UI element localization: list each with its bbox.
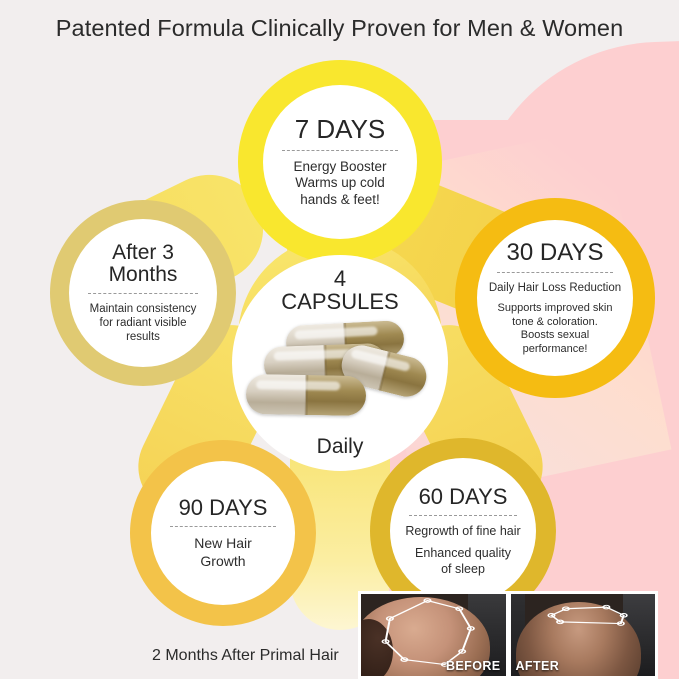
benefit-divider-90days [170,526,277,527]
benefit-heading-60days: 60 DAYS [419,485,508,508]
benefit-text-30days-primary: Daily Hair Loss Reduction [489,281,621,295]
benefit-text-after-3-months: Maintain consistency for radiant visible… [90,302,197,344]
benefit-text-7days: Energy Booster Warms up cold hands & fee… [293,159,386,208]
benefit-divider-after-3-months [88,293,198,294]
benefit-circle-7days[interactable]: 7 DAYS Energy Booster Warms up cold hand… [238,60,442,264]
benefit-circle-90days[interactable]: 90 DAYS New Hair Growth [130,440,316,626]
benefit-inner-90days: 90 DAYS New Hair Growth [151,461,295,605]
benefit-text-90days: New Hair Growth [194,535,252,569]
benefit-divider-30days [497,272,614,273]
capsule-4 [246,374,367,416]
before-photo: BEFORE [361,594,506,676]
benefit-text-60days-secondary: Enhanced quality of sleep [415,546,511,577]
after-label: AFTER [516,659,560,673]
page-title: Patented Formula Clinically Proven for M… [0,15,679,42]
before-label: BEFORE [446,659,501,673]
benefit-divider-60days [409,515,517,516]
center-dosage-circle[interactable]: 4 CAPSULES Daily [232,255,448,471]
after-photo: AFTER [511,594,656,676]
footer-caption: 2 Months After Primal Hair [152,647,339,665]
center-footer: Daily [232,435,448,459]
benefit-circle-after-3-months[interactable]: After 3 Months Maintain consistency for … [50,200,236,386]
benefit-heading-after-3-months: After 3 Months [109,242,178,286]
center-heading: 4 CAPSULES [281,267,398,313]
benefit-text-30days-secondary: Supports improved skin tone & coloration… [498,302,613,356]
benefit-inner-after-3-months: After 3 Months Maintain consistency for … [69,219,217,367]
benefit-heading-30days: 30 DAYS [507,240,604,265]
benefit-heading-90days: 90 DAYS [179,496,268,519]
benefit-divider-7days [282,150,397,151]
benefit-inner-30days: 30 DAYS Daily Hair Loss Reduction Suppor… [477,220,633,376]
benefit-circle-30days[interactable]: 30 DAYS Daily Hair Loss Reduction Suppor… [455,198,655,398]
capsules-image [246,323,434,423]
benefit-text-60days-primary: Regrowth of fine hair [405,524,520,539]
benefit-inner-7days: 7 DAYS Energy Booster Warms up cold hand… [263,85,417,239]
benefit-heading-7days: 7 DAYS [295,116,386,143]
before-after-comparison: BEFORE AFTER [358,591,658,679]
infographic-canvas: Patented Formula Clinically Proven for M… [0,0,679,679]
benefit-inner-60days: 60 DAYS Regrowth of fine hair Enhanced q… [390,458,536,604]
